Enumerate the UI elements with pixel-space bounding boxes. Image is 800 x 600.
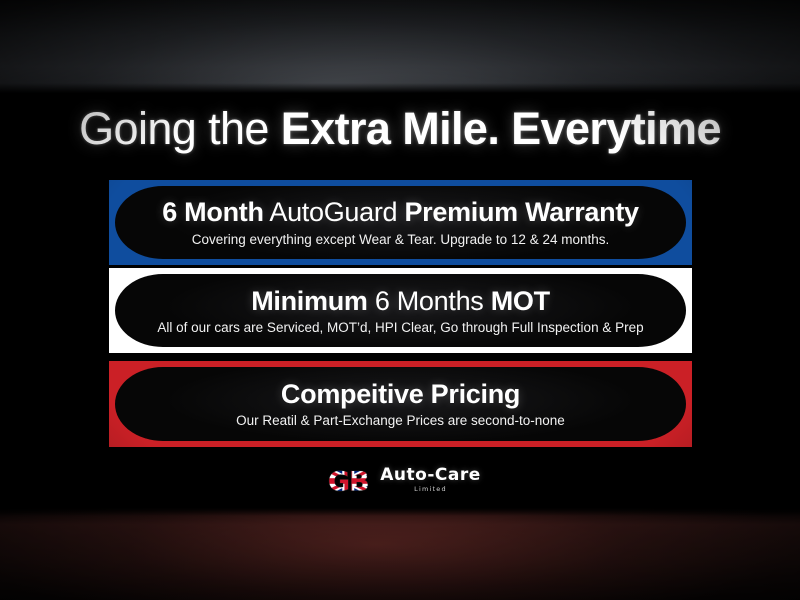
banner-warranty-title-bold-1: 6 Month — [162, 197, 263, 227]
banner-warranty-title-bold-2: Premium Warranty — [404, 197, 638, 227]
banner-mot-title-regular: 6 Months — [368, 286, 491, 316]
banner-pricing-inner: Compeitive Pricing Our Reatil & Part-Exc… — [115, 367, 686, 441]
banner-mot[interactable]: Minimum 6 Months MOT All of our cars are… — [109, 268, 692, 353]
banner-mot-subtitle: All of our cars are Serviced, MOT’d, HPI… — [157, 319, 643, 337]
brand-logo-name: Auto-Care — [380, 467, 480, 484]
brand-logo-suffix: Limited — [414, 486, 447, 493]
brand-logo-wordmark: Auto-Care Limited — [380, 467, 480, 495]
promo-banner-canvas: Going the Extra Mile. Everytime 6 Month … — [0, 0, 800, 600]
headline-light-text: Going the — [79, 103, 281, 154]
union-jack-gb-monogram-icon: GB — [319, 466, 377, 496]
banner-mot-title-bold-2: MOT — [491, 286, 550, 316]
banner-pricing[interactable]: Compeitive Pricing Our Reatil & Part-Exc… — [109, 361, 692, 447]
banner-pricing-subtitle: Our Reatil & Part-Exchange Prices are se… — [236, 412, 565, 430]
banner-warranty-title-regular: AutoGuard — [264, 197, 405, 227]
headline-bold-text: Extra Mile. Everytime — [281, 103, 721, 154]
brand-logo[interactable]: GB Auto-Care Limited — [319, 466, 480, 496]
banner-warranty-inner: 6 Month AutoGuard Premium Warranty Cover… — [115, 186, 686, 259]
banner-mot-title-bold-1: Minimum — [251, 286, 367, 316]
banner-warranty-subtitle: Covering everything except Wear & Tear. … — [192, 231, 610, 249]
banner-mot-title: Minimum 6 Months MOT — [251, 285, 550, 317]
svg-text:GB: GB — [328, 467, 369, 497]
background-top-gradient — [0, 0, 800, 93]
banner-warranty-title: 6 Month AutoGuard Premium Warranty — [162, 196, 638, 228]
banner-warranty[interactable]: 6 Month AutoGuard Premium Warranty Cover… — [109, 180, 692, 265]
background-bottom-gradient — [0, 508, 800, 600]
banner-pricing-title-bold-1: Compeitive Pricing — [281, 379, 520, 409]
banner-pricing-title: Compeitive Pricing — [281, 378, 520, 410]
banner-mot-inner: Minimum 6 Months MOT All of our cars are… — [115, 274, 686, 347]
page-title: Going the Extra Mile. Everytime — [0, 103, 800, 155]
